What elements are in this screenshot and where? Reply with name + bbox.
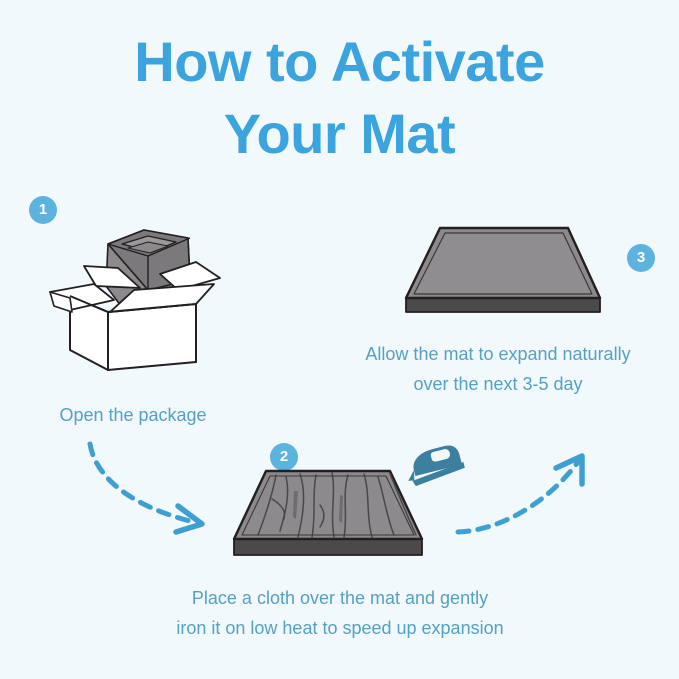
step-3-caption-line-2: over the next 3-5 day: [320, 369, 676, 399]
curved-dashed-arrow-down-right-icon: [82, 440, 217, 540]
step-1-caption-line-1: Open the package: [0, 400, 266, 430]
flat-mat-icon: [398, 218, 608, 328]
step-badge-3: 3: [627, 244, 655, 272]
step-3-caption-line-1: Allow the mat to expand naturally: [320, 339, 676, 369]
arrow-step1-to-step2: [82, 440, 217, 545]
wrinkled-mat-illustration: [228, 465, 428, 575]
infographic-canvas: How to Activate Your Mat 1: [0, 0, 679, 679]
page-title-line-1: How to Activate: [0, 26, 679, 98]
step-2-caption-line-2: iron it on low heat to speed up expansio…: [110, 613, 570, 643]
step-3-caption: Allow the mat to expand naturally over t…: [320, 339, 676, 399]
step-1-caption: Open the package: [0, 400, 266, 430]
step-badge-1: 1: [29, 196, 57, 224]
page-title: How to Activate Your Mat: [0, 26, 679, 170]
wrinkled-mat-icon: [228, 465, 428, 570]
flat-mat-illustration: [398, 218, 608, 333]
step-2-caption-line-1: Place a cloth over the mat and gently: [110, 583, 570, 613]
open-box-icon: [48, 222, 228, 382]
step-2-caption: Place a cloth over the mat and gently ir…: [110, 583, 570, 643]
page-title-line-2: Your Mat: [0, 98, 679, 170]
curved-dashed-arrow-up-right-icon: [452, 440, 592, 540]
open-box-illustration: [48, 222, 228, 387]
arrow-step2-to-step3: [452, 440, 592, 545]
